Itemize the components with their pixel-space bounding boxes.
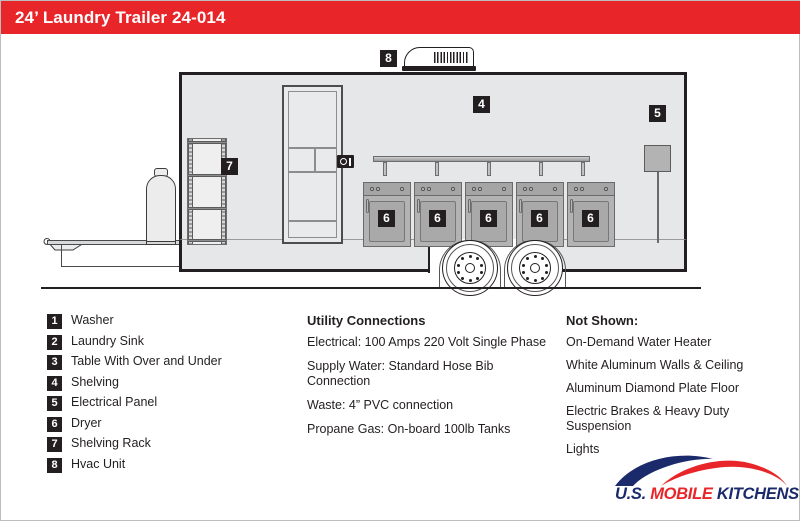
- legend-label: Washer: [71, 313, 114, 328]
- legend-number: 3: [47, 355, 62, 370]
- lug-bolt: [457, 271, 460, 274]
- dryer-knob: [529, 187, 533, 191]
- dryer-knob: [478, 187, 482, 191]
- lug-bolt: [526, 257, 529, 260]
- callout-badge-4: 4: [473, 96, 490, 113]
- legend-label: Dryer: [71, 416, 102, 431]
- shelving-rack: [187, 138, 227, 245]
- logo-text-kitchens: KITCHENS: [717, 485, 799, 503]
- dryer-knob: [580, 187, 584, 191]
- dryer-knob: [604, 187, 608, 191]
- legend-number: 4: [47, 376, 62, 391]
- lug-bolt: [461, 277, 464, 280]
- logo-swoosh-icon: [609, 453, 791, 487]
- logo-wordmark: U.S. MOBILE KITCHENS: [615, 485, 791, 504]
- page-title: 24’ Laundry Trailer 24-014: [15, 8, 226, 28]
- callout-badge-6: 6: [582, 210, 599, 227]
- list-item: 3 Table With Over and Under: [47, 354, 297, 370]
- propane-tank-foot: [146, 241, 176, 245]
- callout-badge-7: 7: [221, 158, 238, 175]
- list-item: 8 Hvac Unit: [47, 457, 297, 473]
- page-root: 24’ Laundry Trailer 24-014: [0, 0, 800, 521]
- dryer-knob: [421, 187, 425, 191]
- lug-bolt: [534, 255, 537, 258]
- utility-line: Supply Water: Standard Hose Bib Connecti…: [307, 359, 547, 389]
- lug-bolt: [457, 264, 460, 267]
- callout-badge-6: 6: [531, 210, 548, 227]
- utility-connections-section: Utility Connections Electrical: 100 Amps…: [307, 313, 547, 446]
- utility-line: Waste: 4” PVC connection: [307, 398, 547, 413]
- door-inner-frame: [288, 91, 337, 238]
- shelf-bracket: [539, 162, 543, 176]
- wall-shelving: [373, 156, 590, 162]
- page-header: 24’ Laundry Trailer 24-014: [1, 1, 800, 34]
- not-shown-line: On-Demand Water Heater: [566, 335, 776, 350]
- hvac-unit: [404, 47, 474, 72]
- lug-bolt: [545, 271, 548, 274]
- not-shown-line: Aluminum Diamond Plate Floor: [566, 381, 776, 396]
- electrical-conduit: [657, 172, 659, 243]
- callout-badge-6: 6: [480, 210, 497, 227]
- utility-heading: Utility Connections: [307, 313, 547, 328]
- utility-line: Propane Gas: On-board 100lb Tanks: [307, 422, 547, 437]
- list-item: 5 Electrical Panel: [47, 395, 297, 411]
- logo-text-mobile: MOBILE: [650, 485, 717, 503]
- dryer-knob: [376, 187, 380, 191]
- dryer-knob: [400, 187, 404, 191]
- legend-label: Shelving Rack: [71, 436, 151, 451]
- legend-number: 8: [47, 458, 62, 473]
- hvac-vent-grille-icon: [434, 52, 468, 63]
- wheel-hub-center: [530, 263, 540, 273]
- legend-number: 6: [47, 417, 62, 432]
- callout-badge-5: 5: [649, 105, 666, 122]
- list-item: 6 Dryer: [47, 416, 297, 432]
- propane-tank: [146, 175, 176, 245]
- door-panel-split: [314, 147, 316, 171]
- lug-bolt: [469, 255, 472, 258]
- legend-label: Table With Over and Under: [71, 354, 222, 369]
- shelf-bracket: [487, 162, 491, 176]
- not-shown-line: White Aluminum Walls & Ceiling: [566, 358, 776, 373]
- not-shown-line: Electric Brakes & Heavy Duty Suspension: [566, 404, 776, 434]
- legend-label: Laundry Sink: [71, 334, 144, 349]
- door-rail: [288, 220, 337, 222]
- lug-bolt: [476, 257, 479, 260]
- lug-bolt: [541, 277, 544, 280]
- lug-bolt: [480, 271, 483, 274]
- lug-bolt: [541, 257, 544, 260]
- dryer-knob: [427, 187, 431, 191]
- trailer-diagram: 8 4 5 7 6 6 6 6 6: [1, 34, 800, 302]
- door-lock-icon[interactable]: [337, 155, 354, 168]
- utility-line: Electrical: 100 Amps 220 Volt Single Pha…: [307, 335, 547, 350]
- dryer-knob: [472, 187, 476, 191]
- dryer-knob: [451, 187, 455, 191]
- hvac-base: [402, 66, 476, 71]
- rack-shelf: [188, 207, 226, 210]
- lug-bolt: [480, 264, 483, 267]
- dryer-knob: [574, 187, 578, 191]
- wheel-hub-center: [465, 263, 475, 273]
- lug-bolt: [461, 257, 464, 260]
- lug-bolt: [545, 264, 548, 267]
- shelf-bracket: [383, 162, 387, 176]
- rack-shelf: [188, 239, 226, 242]
- lug-bolt: [522, 264, 525, 267]
- rack-post-left: [188, 139, 193, 244]
- not-shown-section: Not Shown: On-Demand Water Heater White …: [566, 313, 776, 465]
- callout-badge-6: 6: [378, 210, 395, 227]
- legend-label: Hvac Unit: [71, 457, 125, 472]
- not-shown-heading: Not Shown:: [566, 313, 776, 328]
- legend-number: 1: [47, 314, 62, 329]
- ground-line: [41, 287, 701, 289]
- electrical-panel: [644, 145, 671, 172]
- trailer-tongue-frame: [61, 245, 183, 267]
- dryer-knob: [502, 187, 506, 191]
- rack-shelf: [188, 141, 226, 144]
- lug-bolt: [522, 271, 525, 274]
- shelf-bracket: [435, 162, 439, 176]
- dryer-knob: [370, 187, 374, 191]
- company-logo: U.S. MOBILE KITCHENS: [609, 453, 791, 511]
- lug-bolt: [534, 279, 537, 282]
- legend-number: 7: [47, 437, 62, 452]
- door-rail: [288, 147, 337, 149]
- dryer-knob: [523, 187, 527, 191]
- entry-door[interactable]: [282, 85, 343, 244]
- legend-label: Shelving: [71, 375, 119, 390]
- list-item: 1 Washer: [47, 313, 297, 329]
- list-item: 2 Laundry Sink: [47, 334, 297, 350]
- callout-badge-8: 8: [380, 50, 397, 67]
- logo-text-us: U.S.: [615, 485, 650, 503]
- legend-list: 1 Washer 2 Laundry Sink 3 Table With Ove…: [47, 313, 297, 477]
- rack-post-right: [221, 139, 226, 244]
- legend-number: 2: [47, 335, 62, 350]
- door-rail: [288, 171, 337, 173]
- list-item: 4 Shelving: [47, 375, 297, 391]
- shelf-bracket: [581, 162, 585, 176]
- legend-label: Electrical Panel: [71, 395, 157, 410]
- legend-number: 5: [47, 396, 62, 411]
- list-item: 7 Shelving Rack: [47, 436, 297, 452]
- lug-bolt: [526, 277, 529, 280]
- callout-badge-6: 6: [429, 210, 446, 227]
- lug-bolt: [476, 277, 479, 280]
- lug-bolt: [469, 279, 472, 282]
- dryer-knob: [553, 187, 557, 191]
